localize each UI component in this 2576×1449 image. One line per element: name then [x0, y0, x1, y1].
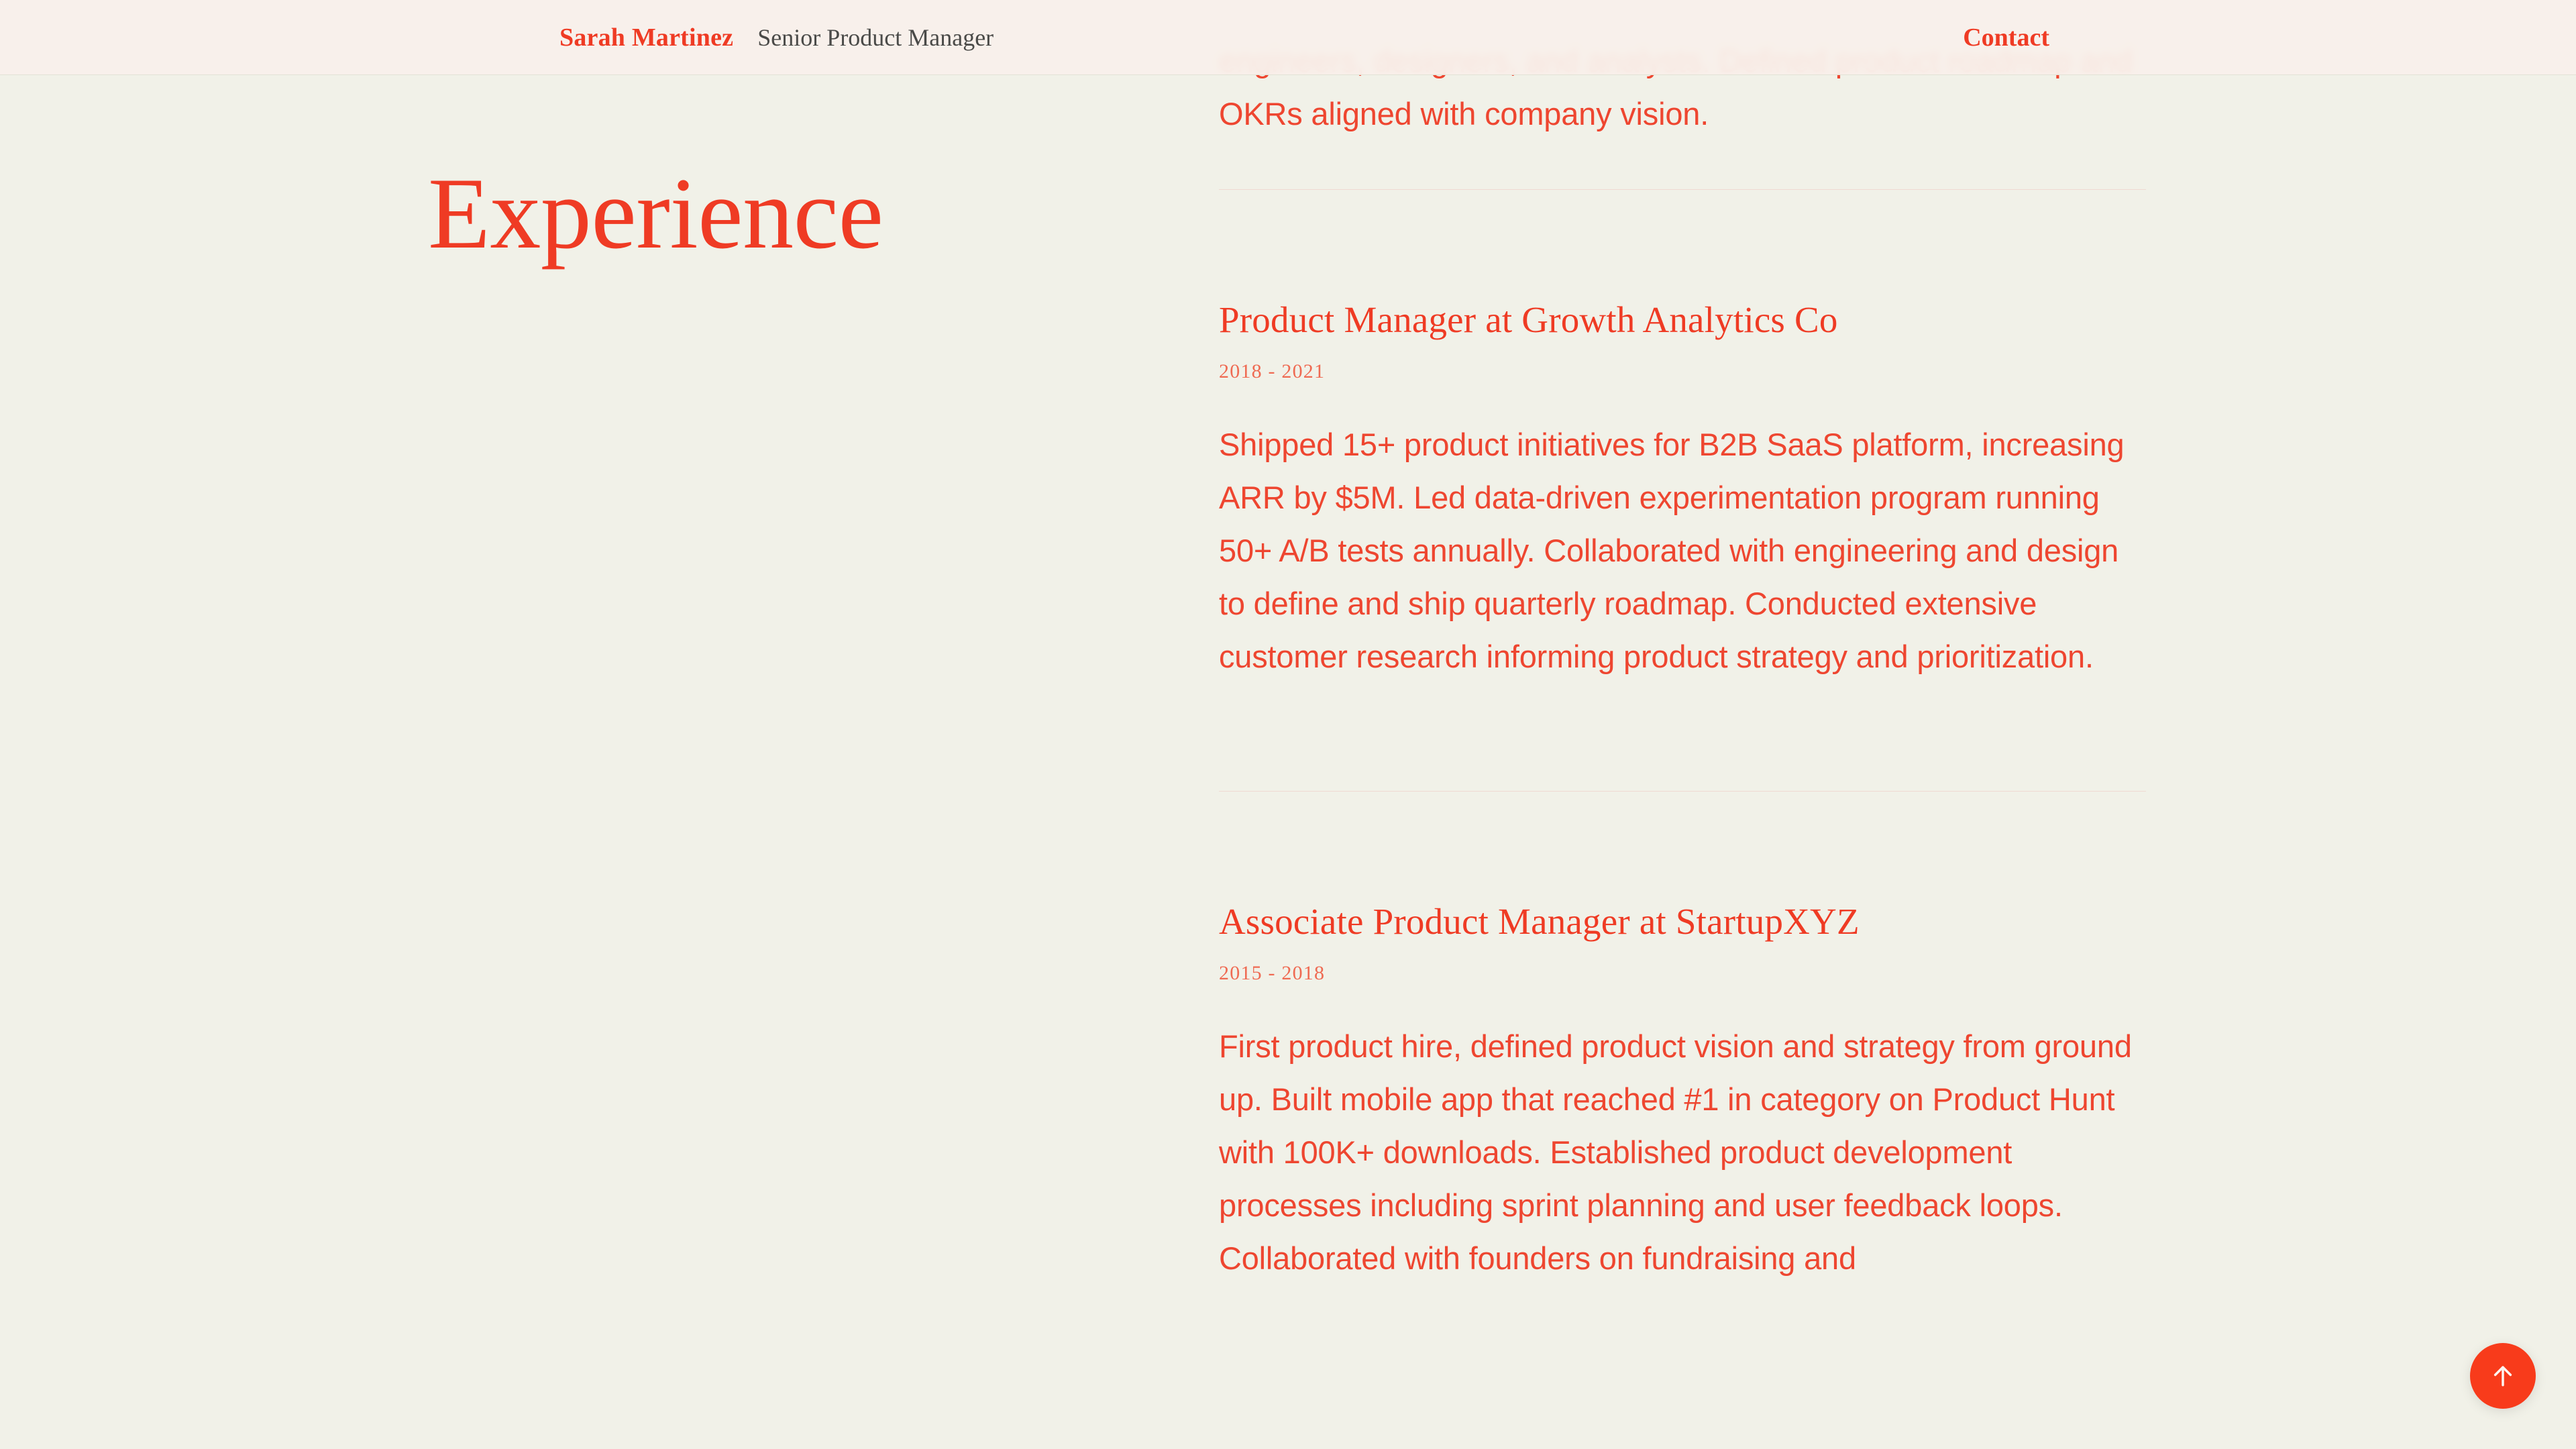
page-title: Experience: [428, 162, 883, 264]
experience-item-1: Product Manager at Growth Analytics Co 2…: [1219, 190, 2146, 791]
brand-role: Senior Product Manager: [757, 25, 994, 50]
experience-item-description: First product hire, defined product visi…: [1219, 1020, 2146, 1285]
scroll-to-top-button[interactable]: [2470, 1343, 2536, 1409]
brand-block[interactable]: Sarah Martinez Senior Product Manager: [559, 25, 994, 50]
experience-item-description: Shipped 15+ product initiatives for B2B …: [1219, 419, 2146, 684]
experience-list: engineers, designers, and analysts. Defi…: [1219, 0, 2146, 1285]
site-header: Sarah Martinez Senior Product Manager Co…: [0, 0, 2576, 75]
nav-link-contact[interactable]: Contact: [1963, 25, 2049, 50]
experience-item-title: Associate Product Manager at StartupXYZ: [1219, 899, 2146, 944]
page-viewport[interactable]: Experience engineers, designers, and ana…: [0, 0, 2576, 1449]
arrow-up-icon: [2488, 1361, 2518, 1391]
experience-item-dates: 2015 - 2018: [1219, 961, 2146, 985]
experience-item-dates: 2018 - 2021: [1219, 360, 2146, 384]
brand-name[interactable]: Sarah Martinez: [559, 25, 733, 50]
primary-nav: Contact: [1963, 25, 2049, 50]
page-content: Experience engineers, designers, and ana…: [0, 0, 2576, 1449]
experience-item-2: Associate Product Manager at StartupXYZ …: [1219, 792, 2146, 1285]
experience-item-title: Product Manager at Growth Analytics Co: [1219, 297, 2146, 342]
